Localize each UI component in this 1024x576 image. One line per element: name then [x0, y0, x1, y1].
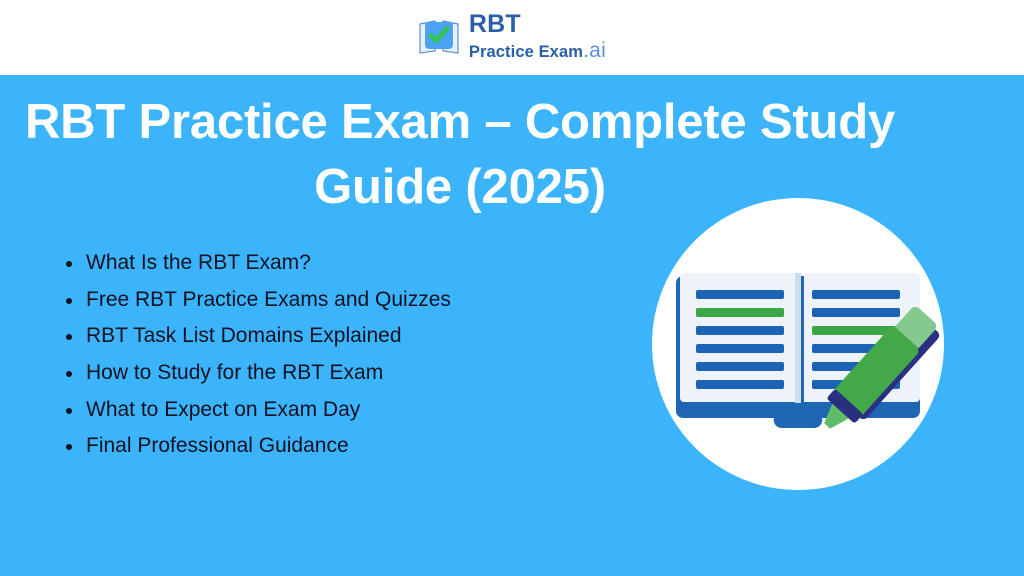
topic-list: What Is the RBT Exam? Free RBT Practice …	[58, 250, 618, 470]
logo-line2-text: Practice Exam	[469, 43, 583, 61]
logo-band: RBT Practice Exam.ai	[0, 0, 1024, 75]
logo-line1: RBT	[469, 12, 606, 37]
list-item: Free RBT Practice Exams and Quizzes	[58, 287, 618, 314]
logo-wordmark: RBT Practice Exam.ai	[469, 12, 606, 61]
list-item: Final Professional Guidance	[58, 433, 618, 460]
open-book-with-highlighter-illustration	[652, 198, 944, 490]
list-item: RBT Task List Domains Explained	[58, 323, 618, 350]
list-item: What to Expect on Exam Day	[58, 397, 618, 424]
book-check-icon	[418, 17, 460, 57]
brand-logo[interactable]: RBT Practice Exam.ai	[418, 12, 606, 61]
hero-banner: RBT Practice Exam.ai RBT Practice Exam –…	[0, 0, 1024, 576]
logo-ai-suffix: .ai	[583, 39, 606, 62]
list-item: What Is the RBT Exam?	[58, 250, 618, 277]
list-item: How to Study for the RBT Exam	[58, 360, 618, 387]
logo-line2: Practice Exam.ai	[469, 40, 606, 61]
